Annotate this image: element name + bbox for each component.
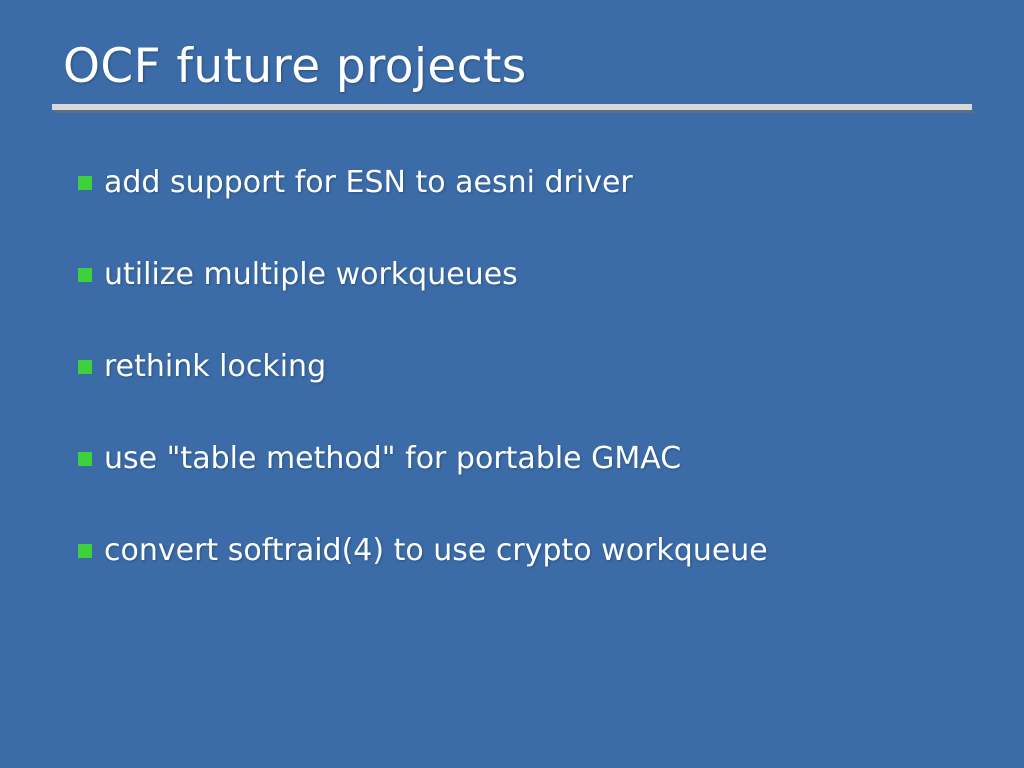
list-item: use "table method" for portable GMAC — [78, 436, 978, 528]
title-block: OCF future projects — [52, 36, 972, 116]
square-bullet-icon — [78, 452, 92, 466]
presentation-slide: OCF future projects add support for ESN … — [0, 0, 1024, 768]
list-item: rethink locking — [78, 344, 978, 436]
list-item-label: convert softraid(4) to use crypto workqu… — [104, 528, 978, 574]
list-item: add support for ESN to aesni driver — [78, 160, 978, 252]
list-item: utilize multiple workqueues — [78, 252, 978, 344]
list-item-label: utilize multiple workqueues — [104, 252, 978, 298]
square-bullet-icon — [78, 360, 92, 374]
title-divider-shadow — [54, 110, 974, 113]
square-bullet-icon — [78, 544, 92, 558]
title-divider — [52, 104, 972, 113]
list-item-label: use "table method" for portable GMAC — [104, 436, 978, 482]
list-item-label: rethink locking — [104, 344, 978, 390]
square-bullet-icon — [78, 176, 92, 190]
square-bullet-icon — [78, 268, 92, 282]
list-item: convert softraid(4) to use crypto workqu… — [78, 528, 978, 620]
page-title: OCF future projects — [63, 36, 527, 98]
bullet-list: add support for ESN to aesni driver util… — [78, 160, 978, 620]
list-item-label: add support for ESN to aesni driver — [104, 160, 978, 206]
